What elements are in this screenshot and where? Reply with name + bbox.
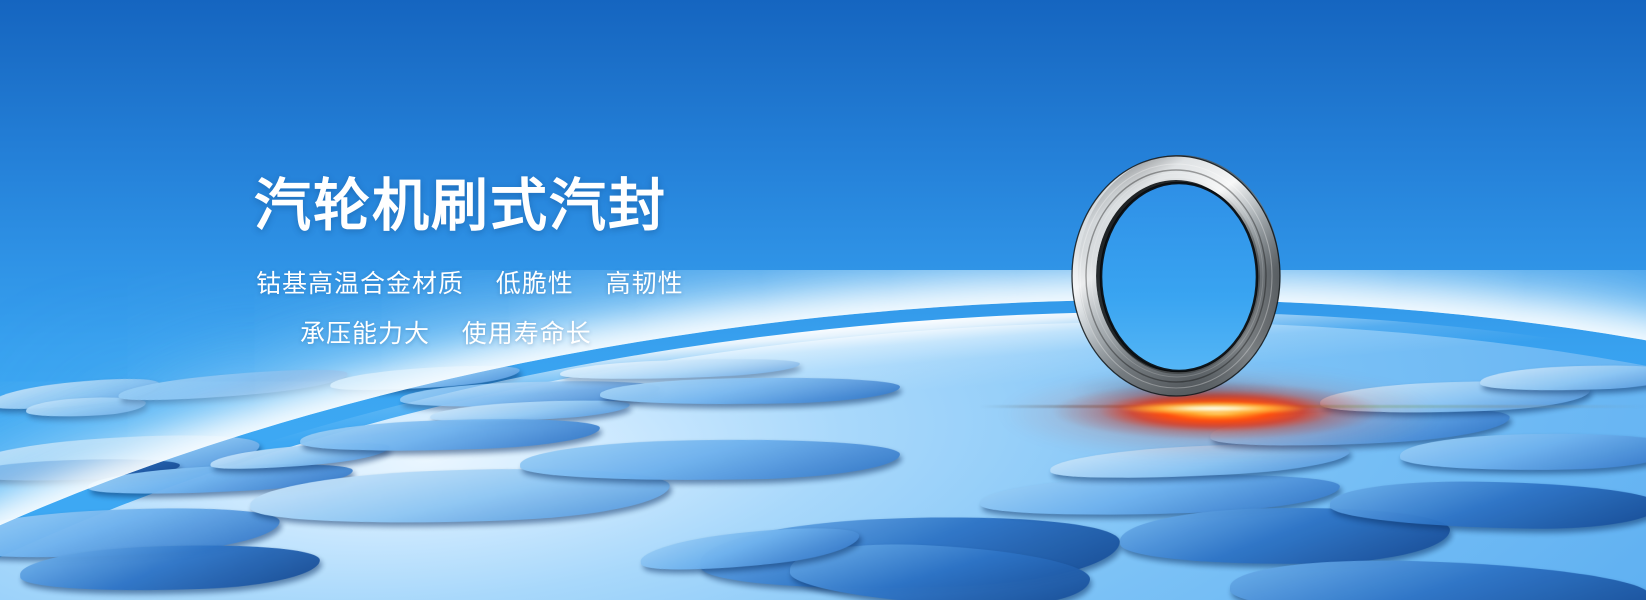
landmass-shape xyxy=(1209,402,1510,452)
product-hero-banner: 汽轮机刷式汽封 钴基高温合金材质 低脆性 高韧性 承压能力大 使用寿命长 xyxy=(0,0,1646,600)
landmass-shape xyxy=(249,463,671,530)
landmass-shape xyxy=(1320,377,1591,416)
landmass-shape xyxy=(0,501,281,565)
landmass-shape xyxy=(639,521,861,578)
landmass-shape xyxy=(88,459,354,499)
hot-glow-halo xyxy=(1000,368,1440,460)
ring-outer-edge xyxy=(1072,156,1280,396)
landmass-shape xyxy=(560,356,800,382)
ring-highlights xyxy=(1072,156,1280,396)
landmass-shape xyxy=(789,538,1092,600)
landmass-shape xyxy=(1480,363,1646,394)
hot-glow xyxy=(1052,382,1382,440)
landmass-shape xyxy=(1120,505,1451,567)
landmass-shape xyxy=(0,428,261,489)
landmass-shape xyxy=(209,438,390,474)
landmass-shape xyxy=(520,437,901,484)
landmass-shape xyxy=(1049,438,1350,484)
landmass-shape xyxy=(19,541,320,595)
landmass-shape xyxy=(699,511,1121,596)
earth-globe xyxy=(0,270,1646,600)
earth-sphere xyxy=(0,270,1646,600)
landmass-shape xyxy=(1330,479,1646,531)
landmass-shape xyxy=(430,397,631,425)
subtitle-line-1: 钴基高温合金材质 低脆性 高韧性 xyxy=(256,272,684,297)
landmass-shape xyxy=(330,361,521,394)
ring-body xyxy=(1072,155,1280,396)
landmass-shape xyxy=(979,470,1340,521)
page-title: 汽轮机刷式汽封 xyxy=(254,178,667,235)
landmass-shape xyxy=(600,375,900,406)
ring-shadow xyxy=(1070,372,1286,406)
landmass-shape xyxy=(0,373,161,415)
subtitle-line-2: 承压能力大 使用寿命长 xyxy=(300,322,592,347)
horizon-line xyxy=(980,405,1646,408)
ring-inner-edge xyxy=(1101,183,1257,371)
landmass-shape xyxy=(117,364,348,406)
landmass-shape xyxy=(400,377,661,410)
banner-copy: 汽轮机刷式汽封 钴基高温合金材质 低脆性 高韧性 承压能力大 使用寿命长 xyxy=(0,0,1646,600)
ring-bore xyxy=(1101,183,1257,371)
landmass-shape xyxy=(300,415,601,455)
atmosphere-glow xyxy=(0,270,1646,600)
landmass-shape xyxy=(26,395,147,419)
hot-glow-core xyxy=(1118,402,1308,415)
brush-seal-ring-image xyxy=(1066,150,1286,402)
atmosphere-band xyxy=(0,270,1646,600)
landmass-shape xyxy=(1400,432,1646,473)
landmass-shape xyxy=(1229,555,1646,600)
landmass-shape xyxy=(0,456,180,483)
